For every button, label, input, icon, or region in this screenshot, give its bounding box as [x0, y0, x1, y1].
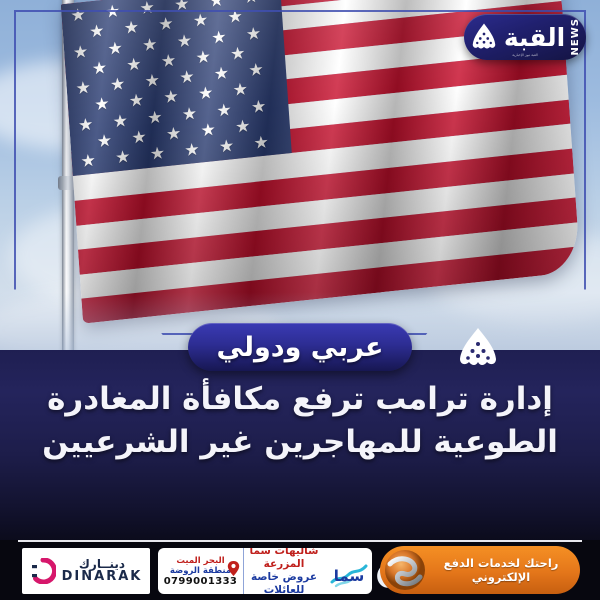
- ad-dinarak[interactable]: دينــارك DINARAK: [22, 548, 150, 594]
- article-headline: إدارة ترامب ترفع مكافأة المغادرة الطوعية…: [30, 378, 570, 464]
- news-card: ★★★★★★★★★★★★★★★★★★★★★★★★★★★★★★★★★★★★★★★★…: [0, 0, 600, 600]
- headline-line-2: الطوعية للمهاجرين غير الشرعيين: [30, 421, 570, 464]
- logo-wordmark: القبة: [504, 25, 565, 50]
- ad-sama-chalets[interactable]: سما شاليهات سما المزرعة عروض خاصة للعائل…: [158, 548, 372, 594]
- sama-line-1: شاليهات سما المزرعة: [244, 548, 324, 571]
- ad-strip: دينــارك DINARAK سما شالي: [0, 540, 600, 600]
- logo-subtitle: القبة نيوز الإخبارية: [464, 53, 586, 57]
- flag-star: ★: [208, 0, 224, 11]
- rahtak-swirl-icon: [384, 549, 426, 591]
- rahtak-label: راحتك لخدمات الدفع الإلكتروني: [426, 556, 576, 584]
- category-badge[interactable]: عربي ودولي: [188, 323, 412, 371]
- headline-line-1: إدارة ترامب ترفع مكافأة المغادرة: [30, 378, 570, 421]
- svg-text:سما: سما: [334, 567, 364, 585]
- sama-location-2: منطقة الروضة: [170, 566, 231, 576]
- dome-icon: [469, 22, 499, 52]
- flag-star: ★: [243, 0, 259, 7]
- sama-location-1: البحر الميت: [176, 556, 224, 566]
- location-pin-icon: [227, 561, 240, 576]
- ad-rahtak-epayment[interactable]: راحتك لخدمات الدفع الإلكتروني: [380, 546, 580, 594]
- dome-icon: [455, 325, 501, 371]
- dinarak-english-label: DINARAK: [62, 570, 143, 584]
- ad-divider: [18, 540, 582, 542]
- sama-line-2: عروض خاصة للعائلات: [244, 571, 324, 594]
- sama-phone[interactable]: 0799001333: [164, 576, 238, 587]
- sama-logo-icon: سما: [326, 548, 372, 594]
- category-label: عربي ودولي: [217, 332, 384, 363]
- outlet-logo[interactable]: NEWS القبة القبة نيوز الإخبارية: [464, 14, 586, 60]
- dinarak-logo-icon: [30, 558, 56, 584]
- logo-news-label: NEWS: [570, 18, 581, 55]
